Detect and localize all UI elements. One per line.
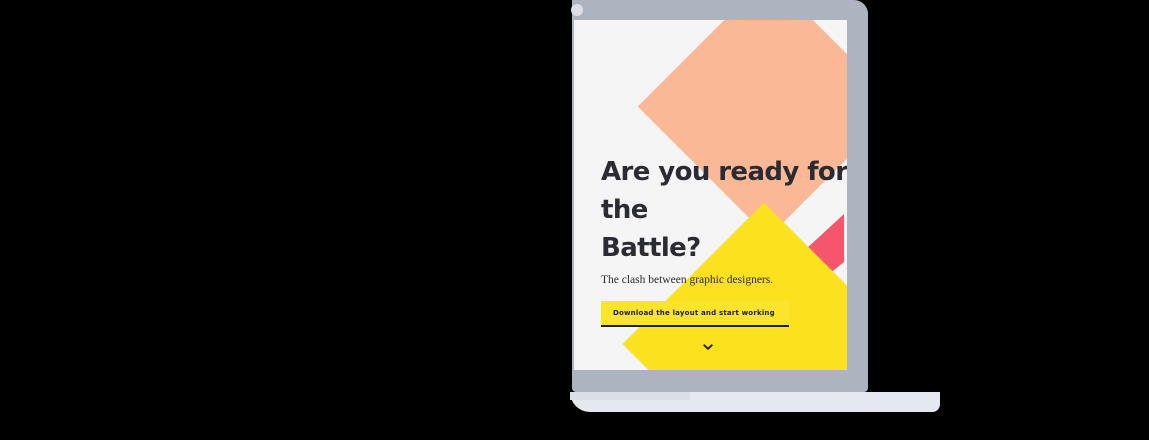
page-title: Are you ready for the Battle?	[601, 153, 847, 267]
webcam-dot-icon	[571, 4, 583, 16]
laptop-screen: Are you ready for the Battle? The clash …	[574, 20, 847, 370]
laptop-base-notch	[570, 392, 690, 400]
cta-underline-accent	[601, 325, 789, 327]
cta-wrapper: Download the layout and start working	[601, 301, 789, 325]
hero-section: Are you ready for the Battle? The clash …	[601, 153, 847, 325]
laptop-mockup: Are you ready for the Battle? The clash …	[572, 0, 940, 412]
chevron-down-icon[interactable]	[701, 340, 715, 354]
download-layout-button[interactable]: Download the layout and start working	[601, 301, 789, 325]
hero-subtitle: The clash between graphic designers.	[601, 273, 847, 287]
canvas-background: Are you ready for the Battle? The clash …	[0, 0, 1149, 440]
